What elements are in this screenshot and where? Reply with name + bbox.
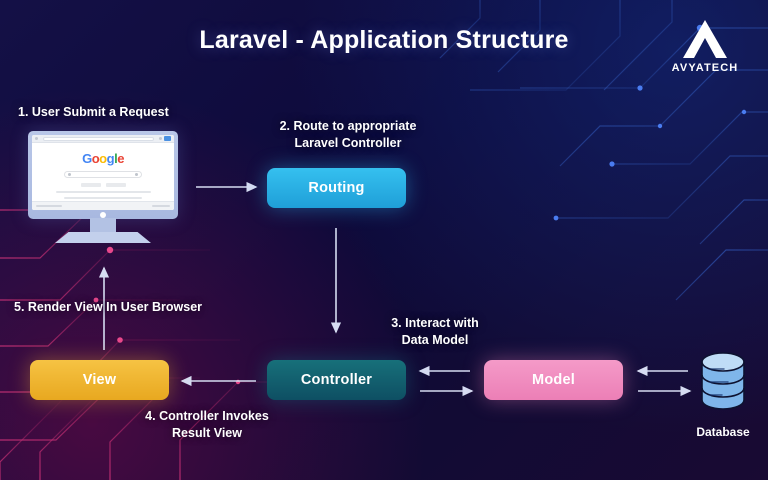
step-label-3: 3. Interact with Data Model — [370, 315, 500, 349]
browser-address-bar[interactable] — [43, 137, 154, 141]
node-routing[interactable]: Routing — [267, 168, 406, 208]
search-icon — [68, 173, 71, 176]
search-button[interactable] — [81, 183, 101, 187]
node-database-label: Database — [690, 425, 756, 439]
node-routing-label: Routing — [308, 180, 364, 196]
node-model-label: Model — [532, 372, 575, 388]
browser-menu-icon — [159, 137, 162, 140]
node-model[interactable]: Model — [484, 360, 623, 400]
footer-text-line — [64, 197, 142, 199]
browser-footer — [32, 201, 174, 210]
monitor-frame: Google — [28, 131, 178, 219]
slide-canvas: Laravel - Application Structure AVYATECH… — [0, 0, 768, 480]
footer-text-line — [56, 191, 151, 193]
footer-left-links — [36, 205, 62, 207]
search-input[interactable] — [64, 171, 142, 178]
search-buttons — [32, 183, 174, 187]
logo-text: AVYATECH — [664, 62, 746, 74]
database-cylinder-icon — [690, 348, 756, 414]
lucky-button[interactable] — [106, 183, 126, 187]
browser-toolbar — [32, 135, 174, 143]
step-label-4: 4. Controller Invokes Result View — [122, 408, 292, 442]
microphone-icon — [135, 173, 138, 176]
monitor-power-led — [100, 212, 106, 218]
node-database[interactable]: Database — [690, 348, 756, 439]
chevron-a-icon — [679, 18, 731, 60]
monitor-stand-neck — [90, 218, 116, 232]
step-label-2: 2. Route to appropriate Laravel Controll… — [258, 118, 438, 152]
step-label-1: 1. User Submit a Request — [18, 104, 213, 121]
footer-right-links — [152, 205, 170, 207]
node-view[interactable]: View — [30, 360, 169, 400]
search-page-body: Google — [32, 143, 174, 199]
node-controller-label: Controller — [301, 372, 372, 388]
avyatech-logo: AVYATECH — [664, 18, 746, 74]
google-wordmark: Google — [32, 152, 174, 165]
page-title: Laravel - Application Structure — [0, 26, 768, 55]
monitor-stand-base — [55, 232, 151, 243]
step-label-5: 5. Render View In User Browser — [14, 299, 239, 316]
browser-signin-button[interactable] — [164, 136, 171, 141]
node-controller[interactable]: Controller — [267, 360, 406, 400]
browser-nav-back-icon — [35, 137, 38, 140]
node-view-label: View — [83, 372, 117, 388]
user-browser-monitor: Google — [28, 131, 178, 243]
browser-window: Google — [32, 135, 174, 210]
